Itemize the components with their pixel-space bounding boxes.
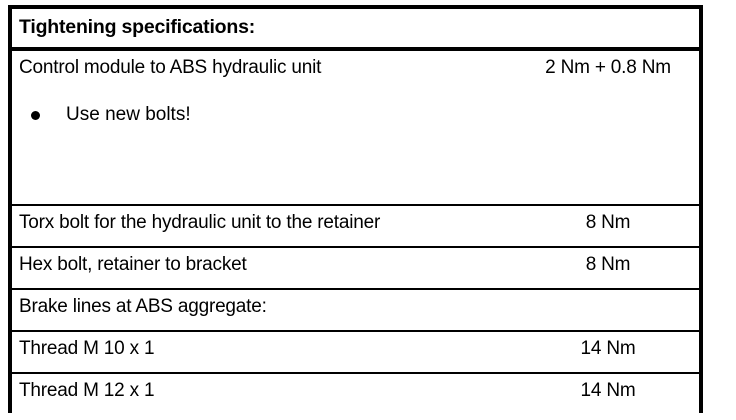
- row-value-brake-lines: [517, 290, 699, 293]
- row-value-control-module: 2 Nm + 0.8 Nm: [517, 51, 699, 81]
- table-row: Thread M 12 x 1 14 Nm: [12, 373, 699, 415]
- row-value-thread-m10: 14 Nm: [517, 332, 699, 362]
- table-row: Brake lines at ABS aggregate:: [12, 289, 699, 331]
- row-value-cell-thread-m12: 14 Nm: [517, 373, 699, 415]
- row-label-brake-lines: Brake lines at ABS aggregate:: [12, 290, 517, 320]
- row-label-cell-brake-lines: Brake lines at ABS aggregate:: [12, 289, 517, 331]
- row-label-cell-hex-bolt: Hex bolt, retainer to bracket: [12, 247, 517, 289]
- table-row: Torx bolt for the hydraulic unit to the …: [12, 205, 699, 247]
- row-label-torx-bolt: Torx bolt for the hydraulic unit to the …: [12, 206, 517, 236]
- header-label-cell: Tightening specifications:: [12, 9, 517, 49]
- tightening-specifications-table: Tightening specifications: Control modul…: [12, 9, 699, 415]
- row-label-cell-thread-m10: Thread M 10 x 1: [12, 331, 517, 373]
- table-row: Hex bolt, retainer to bracket 8 Nm: [12, 247, 699, 289]
- row-value-cell-thread-m10: 14 Nm: [517, 331, 699, 373]
- row-value-thread-m12: 14 Nm: [517, 374, 699, 404]
- tightening-specifications-table-container: Tightening specifications: Control modul…: [8, 5, 703, 413]
- row-label-control-module: Control module to ABS hydraulic unit: [12, 51, 517, 81]
- table-header-row: Tightening specifications:: [12, 9, 699, 49]
- table-title: Tightening specifications:: [12, 9, 517, 41]
- header-value-cell: [517, 9, 699, 49]
- table-row: Thread M 10 x 1 14 Nm: [12, 331, 699, 373]
- row-value-cell-hex-bolt: 8 Nm: [517, 247, 699, 289]
- note-text-use-new-bolts: Use new bolts!: [66, 104, 191, 125]
- row-value-hex-bolt: 8 Nm: [517, 248, 699, 278]
- row-label-cell-torx-bolt: Torx bolt for the hydraulic unit to the …: [12, 205, 517, 247]
- row-label-cell-thread-m12: Thread M 12 x 1: [12, 373, 517, 415]
- bullet-dot-icon: [31, 111, 40, 120]
- row-value-torx-bolt: 8 Nm: [517, 206, 699, 236]
- row-label-thread-m10: Thread M 10 x 1: [12, 332, 517, 362]
- table-row: Control module to ABS hydraulic unit Use…: [12, 49, 699, 205]
- row-label-thread-m12: Thread M 12 x 1: [12, 374, 517, 404]
- header-value-text: [517, 9, 699, 14]
- table-body: Tightening specifications: Control modul…: [12, 9, 699, 415]
- list-item: Use new bolts!: [12, 102, 517, 128]
- row-label-cell-control-module: Control module to ABS hydraulic unit Use…: [12, 49, 517, 205]
- row-value-cell-control-module: 2 Nm + 0.8 Nm: [517, 49, 699, 205]
- row-value-cell-brake-lines: [517, 289, 699, 331]
- row-label-hex-bolt: Hex bolt, retainer to bracket: [12, 248, 517, 278]
- row-notes-list: Use new bolts!: [12, 102, 517, 128]
- row-value-cell-torx-bolt: 8 Nm: [517, 205, 699, 247]
